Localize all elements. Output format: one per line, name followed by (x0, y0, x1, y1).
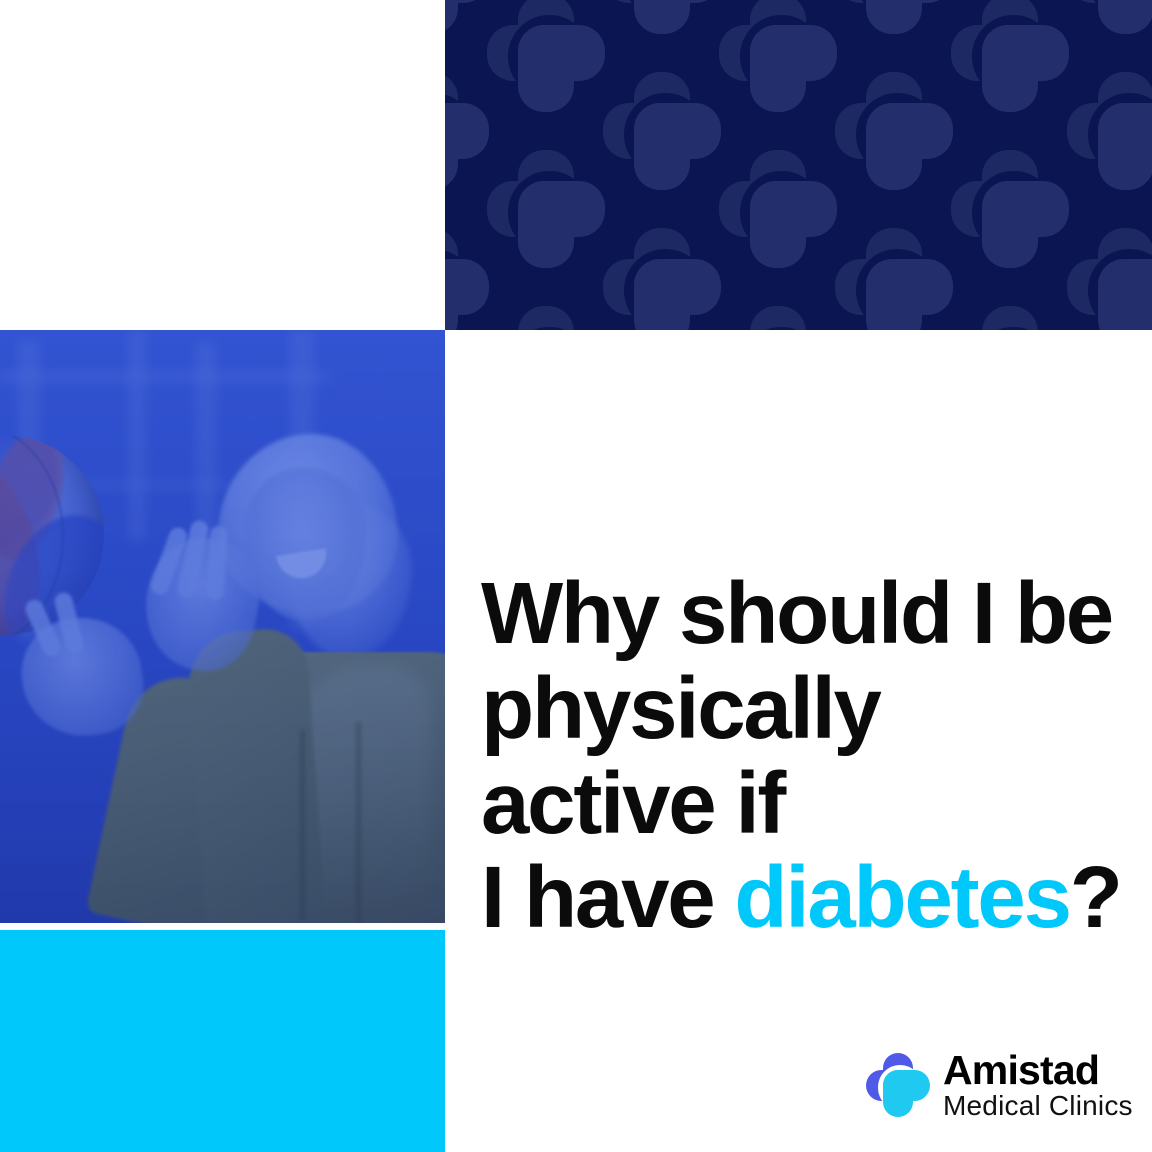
headline-line-1: Why should I be (481, 567, 1121, 662)
medical-cross-swoosh-pattern-icon (719, 0, 837, 112)
medical-cross-swoosh-pattern-icon (951, 306, 1069, 330)
medical-cross-swoosh-icon (866, 1053, 930, 1117)
headline-line-3-suffix: ? (1070, 849, 1121, 946)
brand-name: Amistad (943, 1051, 1133, 1090)
brand-logo: Amistad Medical Clinics (866, 1050, 1133, 1121)
headline-line-1-text: Why should I be (481, 565, 1112, 662)
headline-line-3-prefix: I have (481, 849, 734, 946)
medical-cross-swoosh-pattern-icon (487, 150, 605, 268)
pattern-panel (445, 0, 1152, 330)
medical-cross-swoosh-pattern-icon (487, 306, 605, 330)
cyan-accent-block (0, 930, 445, 1152)
medical-cross-swoosh-pattern-icon (719, 150, 837, 268)
photo-illustration (0, 330, 445, 923)
medical-cross-swoosh-pattern-icon (951, 150, 1069, 268)
medical-cross-swoosh-pattern-icon (835, 72, 953, 190)
headline-accent-word: diabetes (734, 849, 1069, 946)
medical-cross-swoosh-pattern-icon (487, 0, 605, 112)
headline-line-3: I have diabetes? (481, 851, 1121, 946)
medical-cross-swoosh-pattern-icon (603, 72, 721, 190)
medical-cross-swoosh-pattern-icon (445, 0, 489, 34)
medical-cross-swoosh-pattern-icon (603, 228, 721, 330)
brand-wordmark: Amistad Medical Clinics (943, 1050, 1133, 1121)
medical-cross-swoosh-pattern-icon (1067, 0, 1152, 34)
pattern-tile-layer (445, 0, 1152, 330)
medical-cross-swoosh-pattern-icon (1067, 72, 1152, 190)
medical-cross-swoosh-pattern-icon (603, 0, 721, 34)
hero-photo (0, 330, 445, 923)
brand-tagline: Medical Clinics (943, 1091, 1133, 1120)
page-title: Why should I be physically active if I h… (481, 567, 1121, 946)
headline-line-2-text: physically active if (481, 660, 880, 852)
medical-cross-swoosh-pattern-icon (835, 0, 953, 34)
medical-cross-swoosh-pattern-icon (719, 306, 837, 330)
medical-cross-swoosh-pattern-icon (835, 228, 953, 330)
medical-cross-swoosh-pattern-icon (1067, 228, 1152, 330)
medical-cross-swoosh-pattern-icon (445, 72, 489, 190)
medical-cross-swoosh-pattern-icon (445, 228, 489, 330)
headline-line-2: physically active if (481, 662, 1121, 852)
medical-cross-swoosh-pattern-icon (951, 0, 1069, 112)
poster-canvas: Why should I be physically active if I h… (0, 0, 1152, 1152)
